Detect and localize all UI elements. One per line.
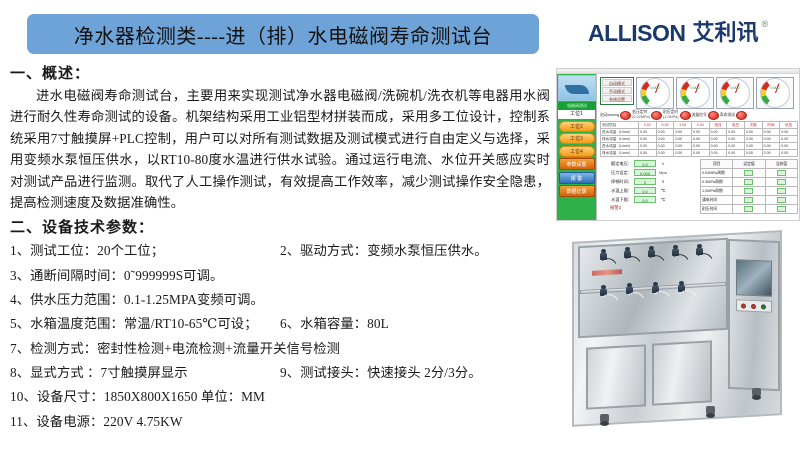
table-row: 1.0MPa周期 bbox=[701, 187, 798, 196]
hmi-status-sub-2: (1.0MPa) bbox=[663, 115, 679, 120]
hmi-param-label-3: 水温上限： bbox=[600, 188, 634, 194]
table-header-row: 测试项目 0.02 0.30 1.00 0.00 电流 电压 次数 时间 状态 bbox=[601, 122, 798, 129]
spec-row: 8、显式方式 ：7寸触摸屏显示 9、测试接头：快速接头 2分/3分。 bbox=[10, 361, 550, 385]
hmi-table-col-8: 状态 bbox=[780, 122, 798, 129]
cell: 0.00 bbox=[709, 129, 727, 136]
hmi-param-value-0[interactable]: 0.0 bbox=[634, 160, 656, 167]
cell: 0.00 bbox=[691, 143, 709, 150]
cell: 0.00 bbox=[727, 150, 745, 157]
spec-row: 11、设备电源：220V 4.75KW bbox=[10, 410, 550, 434]
hmi-param-value-1[interactable]: 0.000 bbox=[634, 169, 656, 176]
hmi-setpoint-label-1: 0.3MPa周期 bbox=[701, 178, 733, 187]
hmi-title-badge: 电磁阀测试 bbox=[558, 102, 596, 110]
hmi-status-start: 启动among bbox=[600, 111, 631, 120]
cell: 0.00 bbox=[780, 136, 798, 143]
hmi-table-col-3: 0.00 bbox=[691, 122, 709, 129]
spec-col-b: 6、水箱容量：80L bbox=[280, 312, 389, 336]
hmi-status-label-4: 寿命测试 bbox=[720, 113, 735, 118]
hmi-setpoint-cur-2 bbox=[765, 187, 797, 196]
cell: 0.00 bbox=[639, 150, 657, 157]
pressure-gauge-2-icon: 0.000 bbox=[680, 78, 710, 108]
cell: 0.00 bbox=[709, 136, 727, 143]
hmi-setpoint-table: 项目 设定值 当前值 0.02MPa周期 0.3MPa周期 1.0MPa周期 bbox=[700, 159, 798, 214]
pressure-gauge-4-icon: 0.000 bbox=[760, 78, 790, 108]
hmi-status-lamp-2-icon[interactable] bbox=[680, 111, 691, 120]
cell: 0.00 bbox=[762, 136, 780, 143]
spec-col-a: 1、测试工位：20个工位； bbox=[10, 243, 164, 258]
hmi-alarm-text: 报警2 bbox=[600, 205, 696, 211]
hmi-station-caption: 工位1 bbox=[558, 110, 595, 119]
table-row: 排水流量（L/min） 0.00 0.00 0.00 0.00 0.00 0.0… bbox=[601, 150, 798, 157]
cell: 0.00 bbox=[762, 150, 780, 157]
spec-col-a: 5、水箱温度范围：常温/RT10-65℃可设； bbox=[10, 316, 258, 331]
cell: 0.00 bbox=[639, 143, 657, 150]
hmi-row-label-0: 进水流量（L/min） bbox=[601, 129, 639, 136]
hmi-setpoint-set-2[interactable] bbox=[733, 187, 765, 196]
hmi-status-row: 启动among 低压定时(0.02MPa) 耐压定时(1.0MPa) 流量信号 … bbox=[600, 110, 798, 120]
table-row: 排水流量（L/min） 0.00 0.00 0.00 0.00 0.00 0.0… bbox=[601, 136, 798, 143]
value-chip bbox=[744, 179, 753, 185]
cell: 0.00 bbox=[762, 129, 780, 136]
hmi-records-button[interactable]: 数据记录 bbox=[559, 185, 595, 197]
table-row: 进水流量（L/min） 0.00 0.00 0.00 0.00 0.00 0.0… bbox=[601, 129, 798, 136]
hmi-setpoint-label-4: 耐压时间 bbox=[701, 205, 733, 214]
spec-col-a: 8、显式方式 ：7寸触摸屏显示 bbox=[10, 365, 188, 380]
hmi-param-value-3[interactable]: 0.0 bbox=[634, 187, 656, 194]
hmi-param-row: 压力设定： 0.000 Mpa bbox=[600, 168, 696, 177]
hmi-param-unit-3: ℃ bbox=[656, 188, 670, 193]
hmi-setpoint-label-0: 0.02MPa周期 bbox=[701, 169, 733, 178]
hmi-param-unit-0: V bbox=[656, 162, 670, 166]
spec-col-b: 9、测试接头：快速接头 2分/3分。 bbox=[280, 361, 482, 385]
registered-trademark-icon: ® bbox=[761, 19, 768, 29]
spec-list: 1、测试工位：20个工位； 2、驱动方式：变频水泵恒压供水。 3、通断间隔时间：… bbox=[10, 239, 550, 433]
cell: 0.00 bbox=[639, 136, 657, 143]
cell: 0.00 bbox=[762, 143, 780, 150]
gauge-3-value: 0.000 bbox=[721, 86, 749, 90]
value-chip bbox=[744, 188, 753, 194]
cell: 0.00 bbox=[709, 143, 727, 150]
machine-control-panel bbox=[736, 299, 772, 313]
hmi-mode-system[interactable]: 系统设置 bbox=[602, 95, 632, 102]
hmi-param-label-1: 压力设定： bbox=[600, 170, 634, 176]
cell: 0.00 bbox=[656, 136, 674, 143]
hmi-settings-button[interactable]: 参数设置 bbox=[559, 158, 595, 170]
hmi-setpoint-cur-4 bbox=[765, 205, 797, 214]
overview-paragraph: 进水电磁阀寿命测试台，主要用来实现测试净水器电磁阀/洗碗机/洗衣机等电器用水阀进… bbox=[10, 85, 550, 213]
hmi-main-area: 自动模式 手动模式 系统设置 0.000 0.000 0.000 bbox=[598, 75, 800, 221]
hmi-row-label-2: 进水流量（L/min） bbox=[601, 143, 639, 150]
value-chip bbox=[744, 206, 753, 212]
spec-row: 5、水箱温度范围：常温/RT10-65℃可设； 6、水箱容量：80L bbox=[10, 312, 550, 336]
hmi-param-value-2[interactable]: 0 bbox=[634, 178, 656, 185]
hmi-sidebar: 电磁阀测试 工位1 工位2 工位3 工位4 参数设置 报 警 数据记录 bbox=[557, 74, 597, 221]
hmi-param-label-2: 停顿时间： bbox=[600, 179, 634, 185]
cell: 0.00 bbox=[780, 129, 798, 136]
hmi-station-button-4[interactable]: 工位4 bbox=[559, 146, 595, 157]
cell: 0.00 bbox=[709, 150, 727, 157]
value-chip bbox=[777, 188, 786, 194]
machine-touchscreen bbox=[736, 259, 772, 297]
machine-photo bbox=[556, 228, 800, 444]
hmi-status-label-0: 启动among bbox=[600, 113, 619, 118]
hmi-status-label-2: 耐压定时 bbox=[663, 110, 678, 114]
hmi-setpoint-set-3[interactable] bbox=[733, 196, 765, 205]
machine-cabinet-door-right bbox=[652, 340, 712, 405]
spec-col-a: 7、检测方式：密封性检测+电流检测+流量开关信号检测 bbox=[10, 341, 340, 356]
hmi-row-label-1: 排水流量（L/min） bbox=[601, 136, 639, 143]
cell: 0.00 bbox=[656, 143, 674, 150]
cell: 0.00 bbox=[744, 150, 762, 157]
spec-col-a: 11、设备电源：220V 4.75KW bbox=[10, 414, 183, 429]
cell: 0.00 bbox=[744, 143, 762, 150]
hmi-status-sub-1: (0.02MPa) bbox=[632, 115, 650, 120]
hmi-setpoint-label-2: 1.0MPa周期 bbox=[701, 187, 733, 196]
machine-cabinet-door-left bbox=[586, 344, 646, 409]
hmi-param-value-4[interactable]: 0.0 bbox=[634, 196, 656, 203]
table-row: 耐压时间 bbox=[701, 205, 798, 214]
cell: 0.00 bbox=[656, 129, 674, 136]
hmi-param-label-0: 额定电压： bbox=[600, 161, 634, 167]
spec-col-a: 4、供水压力范围：0.1-1.25MPA变频可调。 bbox=[10, 292, 264, 307]
machine-knob-icon bbox=[741, 303, 746, 308]
hmi-status-highpressure: 耐压定时(1.0MPa) bbox=[663, 110, 691, 120]
spec-row: 3、通断间隔时间：0˜999999S可调。 bbox=[10, 264, 550, 288]
section-heading-overview: 一、概述： bbox=[10, 62, 550, 83]
document-body: 一、概述： 进水电磁阀寿命测试台，主要用来实现测试净水器电磁阀/洗碗机/洗衣机等… bbox=[10, 62, 550, 434]
hmi-status-lowpressure: 低压定时(0.02MPa) bbox=[632, 110, 662, 120]
hmi-bottom-area: 额定电压： 0.0 V 压力设定： 0.000 Mpa 停顿时间： 0 S 水温… bbox=[600, 159, 798, 214]
value-chip bbox=[777, 197, 786, 203]
cell: 0.00 bbox=[780, 143, 798, 150]
hmi-logo-icon bbox=[558, 75, 596, 101]
hmi-parameter-list: 额定电压： 0.0 V 压力设定： 0.000 Mpa 停顿时间： 0 S 水温… bbox=[600, 159, 696, 214]
hmi-table-col-1: 0.30 bbox=[656, 122, 674, 129]
spec-row: 10、设备尺寸：1850X800X1650 单位：MM bbox=[10, 385, 550, 409]
table-row: 0.02MPa周期 bbox=[701, 169, 798, 178]
section-heading-specs: 二、设备技术参数： bbox=[10, 216, 550, 237]
hmi-top-row: 自动模式 手动模式 系统设置 0.000 0.000 0.000 bbox=[600, 77, 798, 109]
machine-caster-icon bbox=[706, 406, 715, 416]
spec-row: 1、测试工位：20个工位； 2、驱动方式：变频水泵恒压供水。 bbox=[10, 239, 550, 263]
hmi-table-col-5: 电压 bbox=[727, 122, 745, 129]
hmi-mode-auto[interactable]: 自动模式 bbox=[602, 79, 632, 86]
cell: 0.00 bbox=[780, 150, 798, 157]
hmi-status-lamp-1-icon[interactable] bbox=[651, 111, 662, 120]
hmi-logo-swoosh-icon bbox=[565, 85, 589, 94]
table-row: 通电时间 bbox=[701, 196, 798, 205]
machine-caster-icon bbox=[752, 388, 761, 398]
hmi-setpoint-cur-3 bbox=[765, 196, 797, 205]
hmi-station-button-3[interactable]: 工位3 bbox=[559, 133, 595, 144]
hmi-setpoint-header-2: 当前值 bbox=[765, 160, 797, 169]
hmi-param-row: 额定电压： 0.0 V bbox=[600, 159, 696, 168]
spec-row: 7、检测方式：密封性检测+电流检测+流量开关信号检测 bbox=[10, 337, 550, 361]
hmi-table-corner: 测试项目 bbox=[601, 122, 639, 129]
hmi-param-row: 水温上限： 0.0 ℃ bbox=[600, 186, 696, 195]
spec-row: 4、供水压力范围：0.1-1.25MPA变频可调。 bbox=[10, 288, 550, 312]
machine-knob-icon bbox=[761, 304, 766, 309]
cell: 0.00 bbox=[691, 150, 709, 157]
hmi-setpoint-label-3: 通电时间 bbox=[701, 196, 733, 205]
page-title: 净水器检测类----进（排）水电磁阀寿命测试台 bbox=[74, 20, 492, 49]
hmi-alarm-button[interactable]: 报 警 bbox=[559, 172, 595, 184]
hmi-status-lamp-4-icon[interactable] bbox=[736, 111, 747, 120]
machine-knob-icon bbox=[751, 304, 756, 309]
hmi-mode-manual[interactable]: 手动模式 bbox=[602, 87, 632, 94]
value-chip bbox=[744, 197, 753, 203]
hmi-table-col-7: 时间 bbox=[762, 122, 780, 129]
brand-name-cn: 艾利讯 bbox=[692, 22, 758, 44]
hmi-gauge-card-4: 0.000 bbox=[756, 77, 794, 109]
pressure-gauge-3-icon: 0.000 bbox=[720, 78, 750, 108]
table-row: 0.3MPa周期 bbox=[701, 178, 798, 187]
cell: 0.00 bbox=[727, 143, 745, 150]
gauge-1-value: 0.000 bbox=[641, 86, 669, 90]
hmi-setpoint-set-0[interactable] bbox=[733, 169, 765, 178]
page-title-banner: 净水器检测类----进（排）水电磁阀寿命测试台 bbox=[27, 14, 539, 54]
spec-col-a: 10、设备尺寸：1850X800X1650 单位：MM bbox=[10, 389, 265, 404]
hmi-station-button-2[interactable]: 工位2 bbox=[559, 121, 595, 132]
hmi-setpoint-cur-1 bbox=[765, 178, 797, 187]
hmi-status-label-1: 低压定时 bbox=[632, 110, 647, 114]
cell: 0.00 bbox=[744, 129, 762, 136]
cell: 0.00 bbox=[727, 129, 745, 136]
cell: 0.00 bbox=[744, 136, 762, 143]
hmi-status-lamp-0-icon[interactable] bbox=[620, 111, 631, 120]
hmi-table-col-2: 1.00 bbox=[674, 122, 692, 129]
hmi-row-label-3: 排水流量（L/min） bbox=[601, 150, 639, 157]
cell: 0.00 bbox=[674, 143, 692, 150]
gauge-2-value: 0.000 bbox=[681, 86, 709, 90]
hmi-gauge-card-1: 0.000 bbox=[636, 77, 674, 109]
hmi-param-unit-4: ℃ bbox=[656, 197, 670, 202]
hmi-setpoint-cur-0 bbox=[765, 169, 797, 178]
value-chip bbox=[777, 170, 786, 176]
hmi-status-flow: 流量信号 bbox=[692, 111, 719, 120]
cell: 0.00 bbox=[727, 136, 745, 143]
hmi-gauge-card-2: 0.000 bbox=[676, 77, 714, 109]
hmi-param-row: 停顿时间： 0 S bbox=[600, 177, 696, 186]
cell: 0.00 bbox=[674, 136, 692, 143]
hmi-setpoint-set-4[interactable] bbox=[733, 205, 765, 214]
gauge-4-value: 0.000 bbox=[761, 86, 789, 90]
hmi-status-life: 寿命测试 bbox=[720, 111, 747, 120]
spec-col-b: 2、驱动方式：变频水泵恒压供水。 bbox=[280, 239, 488, 263]
hmi-setpoint-header-1: 设定值 bbox=[733, 160, 765, 169]
brand-name-en: ALLISON bbox=[588, 22, 685, 45]
hmi-param-label-4: 水温下限： bbox=[600, 197, 634, 203]
cell: 0.00 bbox=[691, 129, 709, 136]
value-chip bbox=[744, 170, 753, 176]
cell: 0.00 bbox=[639, 129, 657, 136]
spec-col-a: 3、通断间隔时间：0˜999999S可调。 bbox=[10, 268, 223, 283]
hmi-param-row: 水温下限： 0.0 ℃ bbox=[600, 195, 696, 204]
machine-caster-icon bbox=[600, 414, 609, 424]
hmi-param-unit-1: Mpa bbox=[656, 171, 670, 175]
cell: 0.00 bbox=[656, 150, 674, 157]
cell: 0.00 bbox=[674, 129, 692, 136]
hmi-gauge-card-3: 0.000 bbox=[716, 77, 754, 109]
hmi-mode-selector[interactable]: 自动模式 手动模式 系统设置 bbox=[600, 77, 634, 105]
hmi-table-col-6: 次数 bbox=[744, 122, 762, 129]
pressure-gauge-1-icon: 0.000 bbox=[640, 78, 670, 108]
value-chip bbox=[777, 179, 786, 185]
hmi-table-col-4: 电流 bbox=[709, 122, 727, 129]
hmi-screenshot-panel: 电磁阀测试 工位1 工位2 工位3 工位4 参数设置 报 警 数据记录 自动模式… bbox=[556, 68, 800, 221]
hmi-status-lamp-3-icon[interactable] bbox=[708, 111, 719, 120]
hmi-setpoint-header-0: 项目 bbox=[701, 160, 733, 169]
table-header-row: 项目 设定值 当前值 bbox=[701, 160, 798, 169]
hmi-data-table: 测试项目 0.02 0.30 1.00 0.00 电流 电压 次数 时间 状态 … bbox=[600, 121, 798, 157]
hmi-status-label-3: 流量信号 bbox=[692, 113, 707, 118]
hmi-table-col-0: 0.02 bbox=[639, 122, 657, 129]
hmi-param-unit-2: S bbox=[656, 180, 670, 184]
brand-logo: ALLISON 艾利讯 ® bbox=[588, 22, 768, 45]
value-chip bbox=[777, 206, 786, 212]
cell: 0.00 bbox=[691, 136, 709, 143]
table-row: 进水流量（L/min） 0.00 0.00 0.00 0.00 0.00 0.0… bbox=[601, 143, 798, 150]
hmi-setpoint-set-1[interactable] bbox=[733, 178, 765, 187]
cell: 0.00 bbox=[674, 150, 692, 157]
